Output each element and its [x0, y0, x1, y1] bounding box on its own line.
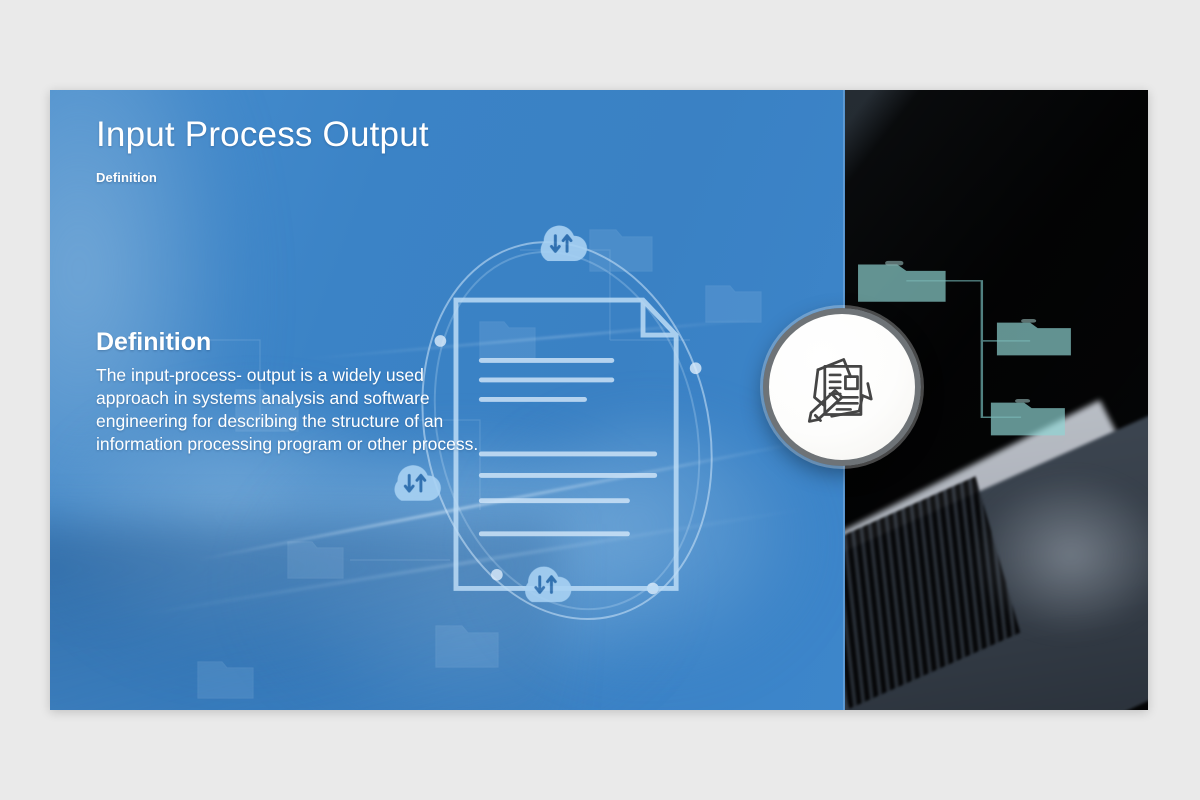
page-backdrop: Input Process Output Definition Definiti… [0, 0, 1200, 800]
blue-overlay-photo-panel [50, 90, 845, 710]
presentation-slide: Input Process Output Definition Definiti… [50, 90, 1148, 710]
document-orbit-graphic [416, 226, 718, 635]
document-pencil-badge[interactable] [763, 308, 921, 466]
document-pencil-icon [799, 344, 885, 430]
